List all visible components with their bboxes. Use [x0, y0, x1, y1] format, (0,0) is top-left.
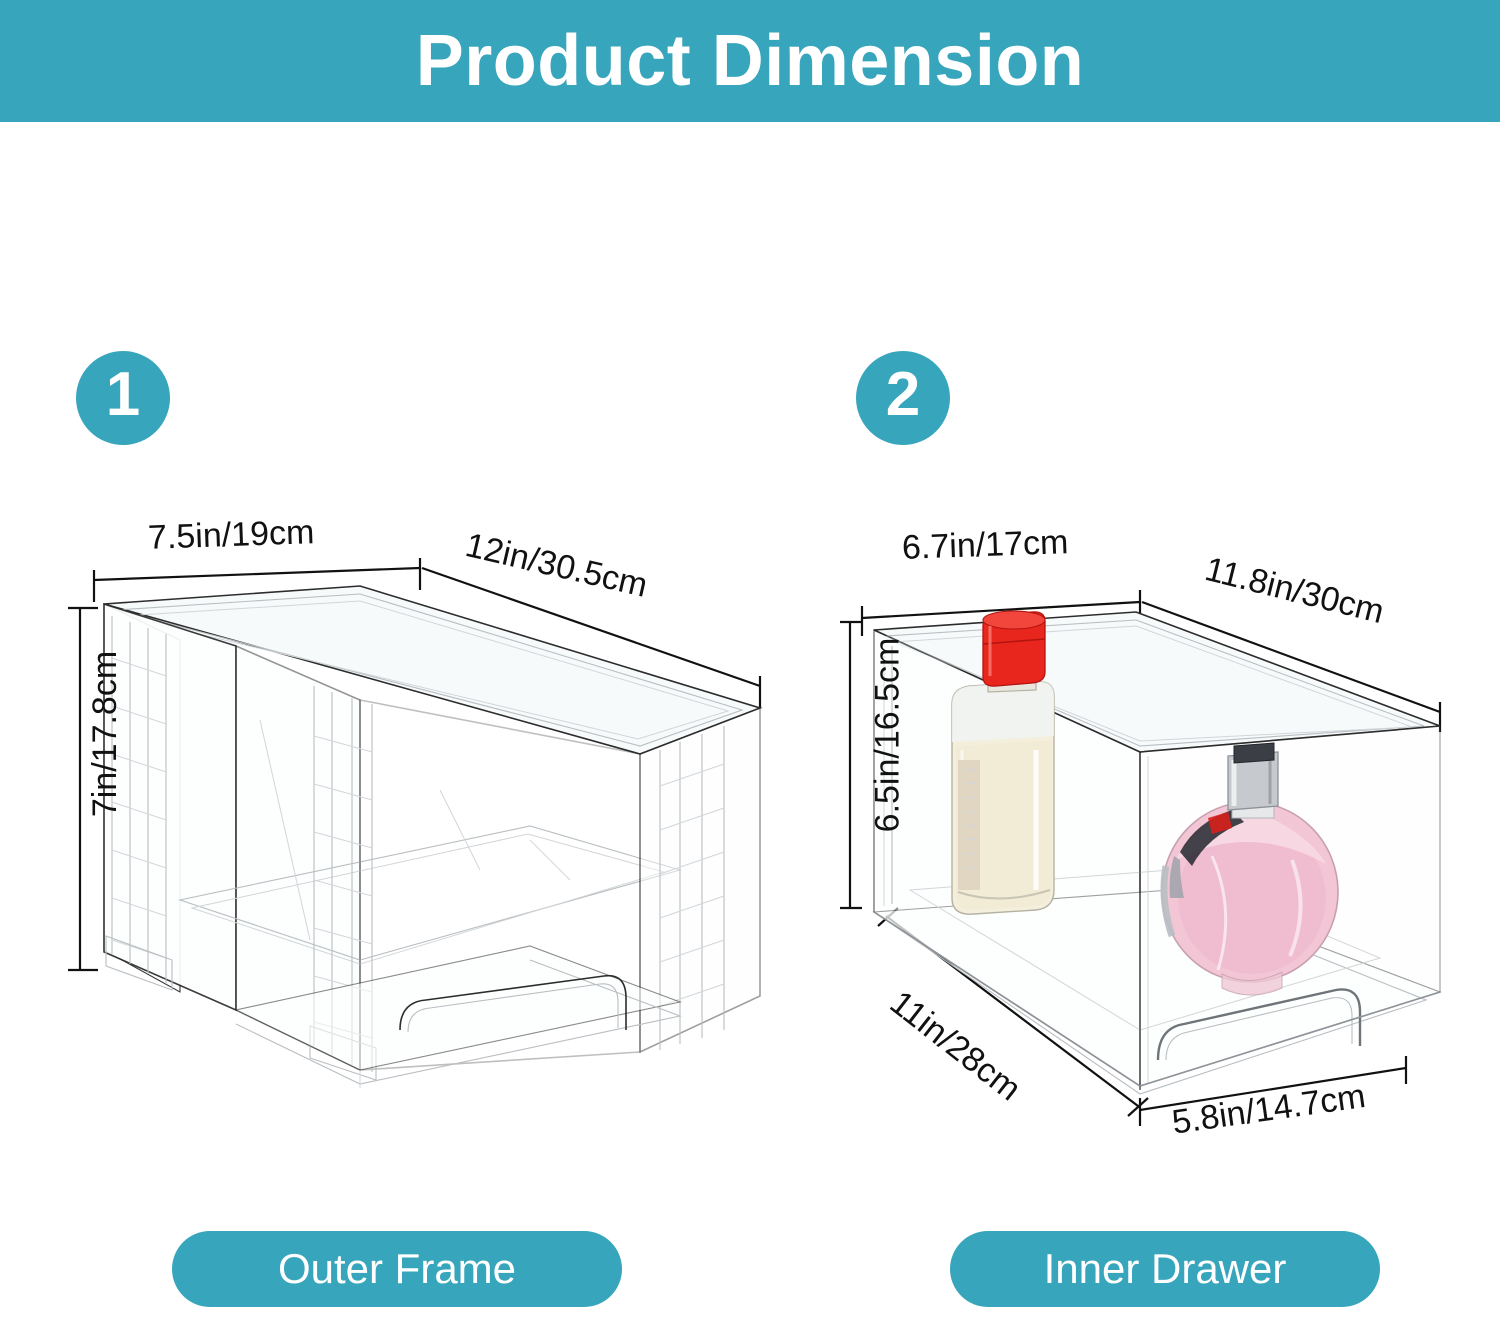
outer-height-label: 7in/17.8cm [88, 651, 122, 817]
outer-frame-caption-pill: Outer Frame [172, 1231, 622, 1307]
outer-width-label: 7.5in/19cm [147, 515, 314, 555]
number-two-badge: 2 [856, 351, 950, 445]
inner-drawer-caption-label: Inner Drawer [1044, 1248, 1287, 1290]
outer-frame-body [104, 586, 760, 1088]
inner-drawer-body [874, 611, 1440, 1094]
badge-one-label: 1 [106, 364, 140, 426]
badge-two-label: 2 [886, 364, 920, 426]
outer-frame-caption-label: Outer Frame [278, 1248, 516, 1290]
inner-height-label: 6.5in/16.5cm [870, 638, 904, 833]
outer-frame-illustration [60, 540, 780, 1160]
inner-drawer-illustration [840, 560, 1460, 1160]
dimension-line-height [840, 622, 862, 908]
inner-width-label: 6.7in/17cm [901, 525, 1068, 565]
page-title: Product Dimension [416, 25, 1085, 97]
number-one-badge: 1 [76, 351, 170, 445]
inner-drawer-caption-pill: Inner Drawer [950, 1231, 1380, 1307]
page-header: Product Dimension [0, 0, 1500, 122]
product-dimension-infographic: Product Dimension 1 2 [0, 0, 1500, 1324]
